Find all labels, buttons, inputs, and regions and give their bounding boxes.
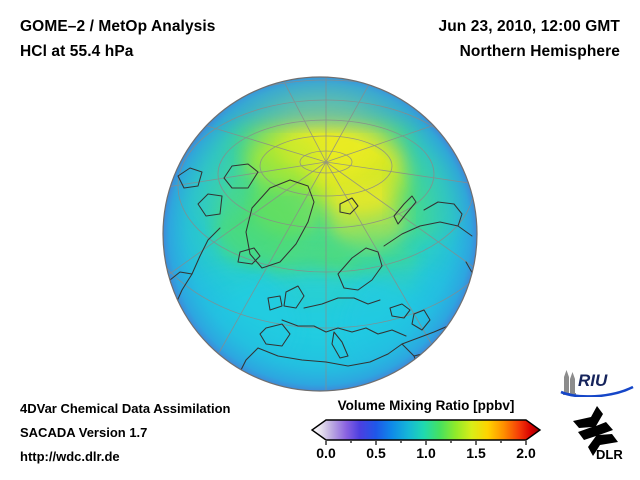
credit-line-version: SACADA Version 1.7 — [20, 425, 147, 440]
colorbar-tick-label: 0.0 — [316, 445, 335, 461]
colorbar-tick-label: 1.0 — [416, 445, 435, 461]
colorbar-tick-label: 2.0 — [516, 445, 535, 461]
colorbar: Volume Mixing Ratio [ppbv] 0.00.51.01.52… — [310, 398, 542, 468]
credit-line-assimilation: 4DVar Chemical Data Assimilation — [20, 401, 231, 416]
credit-line-url[interactable]: http://wdc.dlr.de — [20, 449, 120, 464]
colorbar-title: Volume Mixing Ratio [ppbv] — [310, 398, 542, 413]
figure-canvas: GOME–2 / MetOp Analysis HCl at 55.4 hPa … — [0, 0, 640, 480]
riu-logo: RIU — [559, 367, 635, 397]
header-datetime: Jun 23, 2010, 12:00 GMT — [439, 18, 621, 36]
colorbar-svg — [310, 419, 542, 445]
globe-svg — [162, 76, 478, 392]
colorbar-tick-label: 0.5 — [366, 445, 385, 461]
cathedral-spires-icon — [563, 370, 576, 395]
dlr-logo-svg: DLR — [566, 404, 634, 462]
colorbar-tick-label: 1.5 — [466, 445, 485, 461]
dlr-logo: DLR — [566, 404, 634, 462]
header-instrument-title: GOME–2 / MetOp Analysis — [20, 18, 216, 36]
globe-map — [162, 76, 478, 392]
header-species-level: HCl at 55.4 hPa — [20, 43, 134, 61]
dlr-logo-text: DLR — [596, 447, 623, 462]
header-region: Northern Hemisphere — [460, 43, 620, 61]
colorbar-tick-labels: 0.00.51.01.52.0 — [310, 445, 542, 465]
riu-logo-text: RIU — [578, 371, 608, 390]
riu-logo-svg: RIU — [559, 367, 635, 397]
